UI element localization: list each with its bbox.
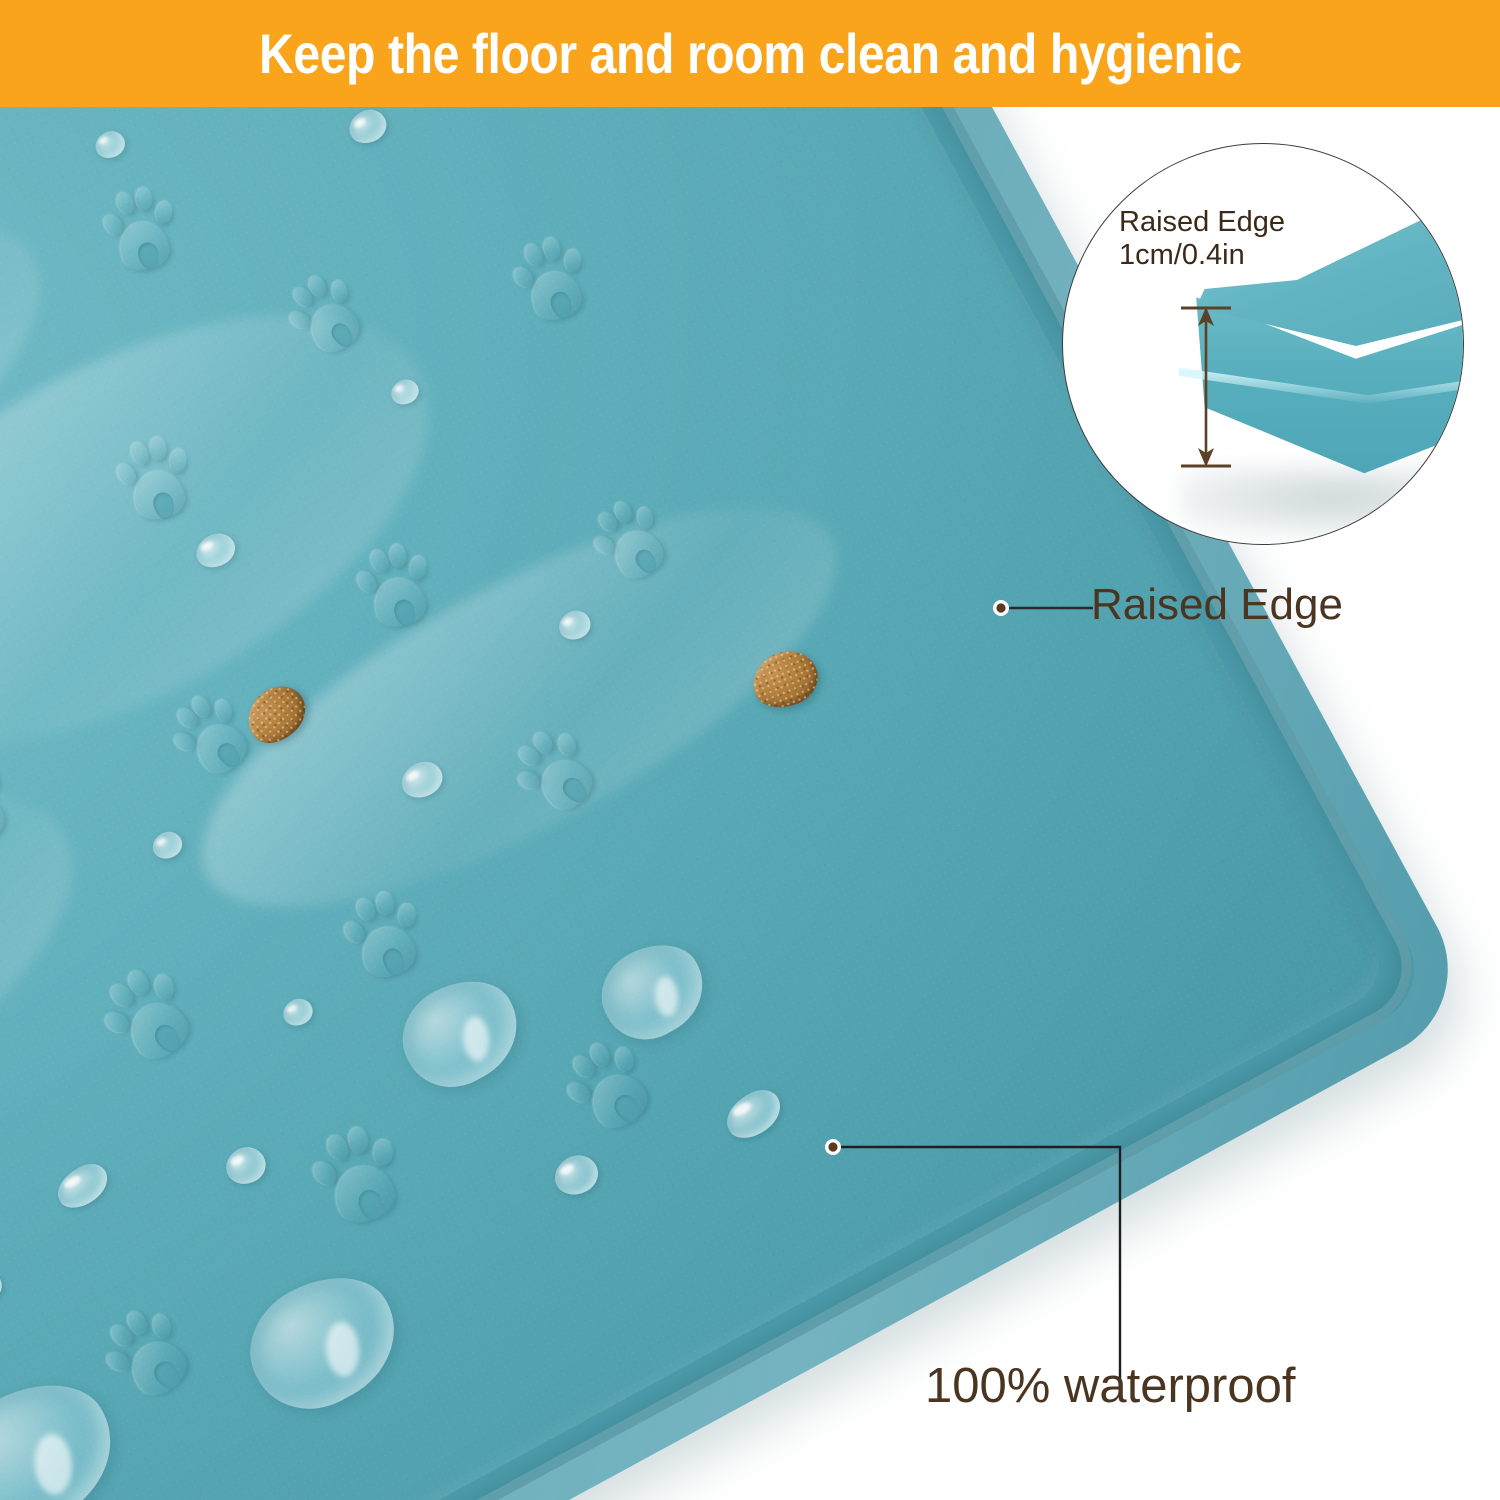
callout-label-waterproof: 100% waterproof	[925, 1358, 1295, 1414]
inset-label-line2: 1cm/0.4in	[1119, 239, 1285, 272]
raised-edge-leader-line	[985, 592, 1095, 632]
product-photo: Raised Edge 1cm/0.4in Raised Edge 100%	[0, 107, 1500, 1500]
product-infographic: Keep the floor and room clean and hygien…	[0, 0, 1500, 1500]
waterproof-leader-line	[815, 1132, 1135, 1392]
dimension-arrow-icon	[1171, 302, 1241, 472]
callout-label-raised-edge: Raised Edge	[1091, 580, 1343, 630]
raised-edge-inset: Raised Edge 1cm/0.4in	[1062, 143, 1464, 545]
inset-dimension-label: Raised Edge 1cm/0.4in	[1119, 206, 1285, 273]
inset-label-line1: Raised Edge	[1119, 206, 1285, 239]
corner-drop-shadow	[1181, 466, 1464, 545]
headline-banner: Keep the floor and room clean and hygien…	[0, 0, 1500, 107]
headline-text: Keep the floor and room clean and hygien…	[259, 26, 1242, 82]
